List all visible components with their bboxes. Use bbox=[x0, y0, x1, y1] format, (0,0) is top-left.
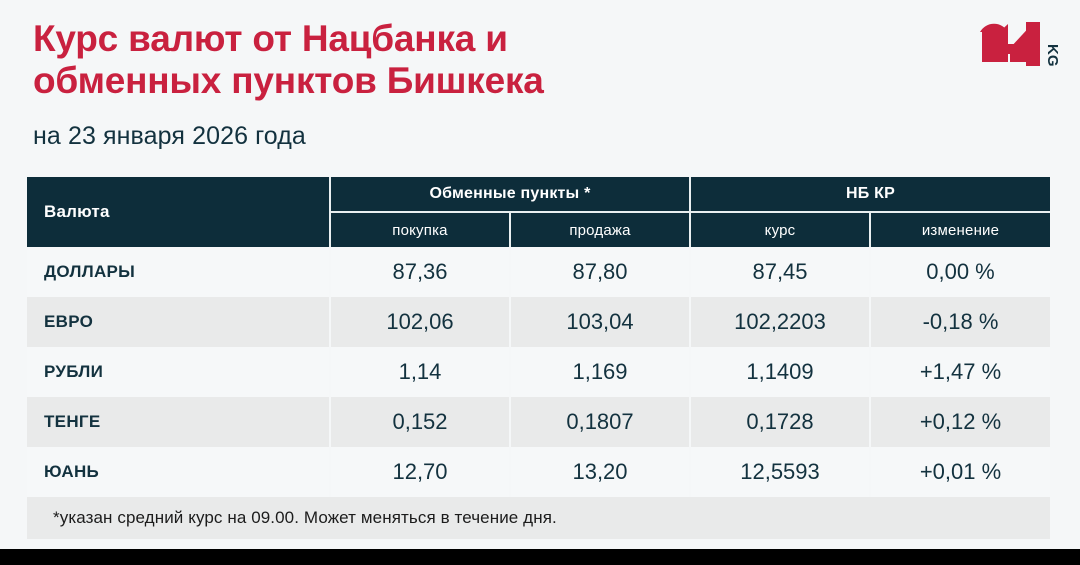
header-currency: Валюта bbox=[27, 177, 330, 247]
cell-change: +0,12 % bbox=[870, 397, 1050, 447]
cell-currency: ЕВРО bbox=[27, 297, 330, 347]
cell-rate: 12,5593 bbox=[690, 447, 870, 497]
rates-table: Валюта Обменные пункты * НБ КР покупка п… bbox=[27, 177, 1050, 539]
cell-currency: ЮАНЬ bbox=[27, 447, 330, 497]
table-body: ДОЛЛАРЫ 87,36 87,80 87,45 0,00 % ЕВРО 10… bbox=[27, 247, 1050, 539]
page-title: Курс валют от Нацбанка и обменных пункто… bbox=[33, 18, 933, 102]
logo-kg-text: KG bbox=[1044, 44, 1060, 67]
cell-sell: 1,169 bbox=[510, 347, 690, 397]
bottom-bar bbox=[0, 549, 1080, 565]
cell-change: +1,47 % bbox=[870, 347, 1050, 397]
header-group-exchange: Обменные пункты * bbox=[330, 177, 690, 212]
cell-buy: 0,152 bbox=[330, 397, 510, 447]
cell-change: +0,01 % bbox=[870, 447, 1050, 497]
infographic-page: Курс валют от Нацбанка и обменных пункто… bbox=[0, 0, 1080, 565]
cell-currency: ТЕНГЕ bbox=[27, 397, 330, 447]
cell-currency: ДОЛЛАРЫ bbox=[27, 247, 330, 297]
cell-rate: 0,1728 bbox=[690, 397, 870, 447]
cell-sell: 13,20 bbox=[510, 447, 690, 497]
cell-buy: 87,36 bbox=[330, 247, 510, 297]
header-sub-rate: курс bbox=[690, 212, 870, 247]
cell-change: 0,00 % bbox=[870, 247, 1050, 297]
table-row: ЕВРО 102,06 103,04 102,2203 -0,18 % bbox=[27, 297, 1050, 347]
header-row-groups: Валюта Обменные пункты * НБ КР bbox=[27, 177, 1050, 212]
cell-currency: РУБЛИ bbox=[27, 347, 330, 397]
header-block: Курс валют от Нацбанка и обменных пункто… bbox=[33, 18, 933, 151]
cell-rate: 102,2203 bbox=[690, 297, 870, 347]
svg-text:KG: KG bbox=[1044, 44, 1060, 67]
footnote-row: *указан средний курс на 09.00. Может мен… bbox=[27, 497, 1050, 539]
cell-sell: 87,80 bbox=[510, 247, 690, 297]
rates-table-wrapper: Валюта Обменные пункты * НБ КР покупка п… bbox=[27, 177, 1050, 539]
header-sub-sell: продажа bbox=[510, 212, 690, 247]
logo-24-mark bbox=[980, 22, 1040, 66]
table-row: ДОЛЛАРЫ 87,36 87,80 87,45 0,00 % bbox=[27, 247, 1050, 297]
cell-buy: 12,70 bbox=[330, 447, 510, 497]
header-group-nbkr: НБ КР bbox=[690, 177, 1050, 212]
cell-change: -0,18 % bbox=[870, 297, 1050, 347]
table-row: РУБЛИ 1,14 1,169 1,1409 +1,47 % bbox=[27, 347, 1050, 397]
footnote-text: *указан средний курс на 09.00. Может мен… bbox=[27, 497, 1050, 539]
cell-buy: 1,14 bbox=[330, 347, 510, 397]
header-sub-buy: покупка bbox=[330, 212, 510, 247]
cell-sell: 0,1807 bbox=[510, 397, 690, 447]
cell-buy: 102,06 bbox=[330, 297, 510, 347]
table-row: ЮАНЬ 12,70 13,20 12,5593 +0,01 % bbox=[27, 447, 1050, 497]
table-row: ТЕНГЕ 0,152 0,1807 0,1728 +0,12 % bbox=[27, 397, 1050, 447]
page-subtitle: на 23 января 2026 года bbox=[33, 122, 933, 151]
table-head: Валюта Обменные пункты * НБ КР покупка п… bbox=[27, 177, 1050, 247]
logo-24kg[interactable]: KG bbox=[978, 18, 1060, 78]
cell-rate: 1,1409 bbox=[690, 347, 870, 397]
cell-sell: 103,04 bbox=[510, 297, 690, 347]
header-sub-change: изменение bbox=[870, 212, 1050, 247]
cell-rate: 87,45 bbox=[690, 247, 870, 297]
